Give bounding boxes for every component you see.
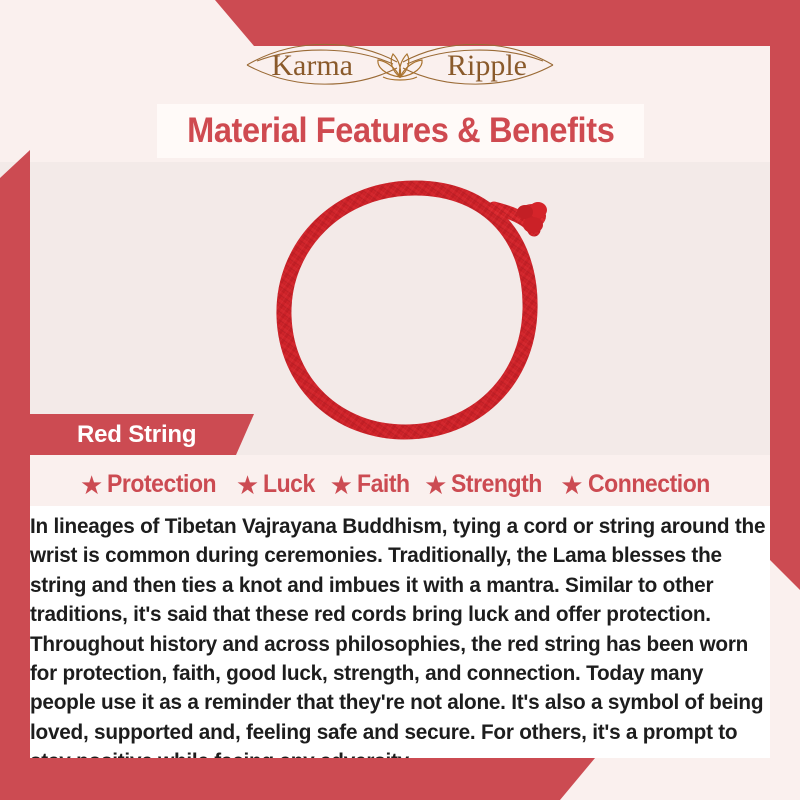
- page-title: Material Features & Benefits: [187, 111, 614, 151]
- feature-label: Connection: [588, 470, 710, 499]
- description-text: In lineages of Tibetan Vajrayana Buddhis…: [30, 506, 770, 758]
- feature-list: ★ Protection ★ Luck ★ Faith ★ Strength ★…: [30, 463, 770, 506]
- feature-label: Strength: [451, 470, 542, 499]
- star-icon: ★: [80, 472, 103, 498]
- feature-label: Protection: [107, 470, 216, 499]
- material-name: Red String: [77, 421, 196, 449]
- title-banner: Material Features & Benefits: [157, 104, 644, 158]
- feature-item-connection: ★ Connection: [555, 470, 725, 499]
- feature-item-luck: ★ Luck: [231, 470, 325, 499]
- hero-image-panel: [0, 162, 800, 455]
- infographic-page: Karma Ripple Material Features & Benefit…: [0, 0, 800, 800]
- feature-item-faith: ★ Faith: [325, 470, 420, 499]
- brand-name-right: Ripple: [447, 49, 527, 82]
- feature-item-strength: ★ Strength: [419, 470, 555, 499]
- brand-logo: Karma Ripple: [0, 34, 800, 96]
- bracelet-loop-shade: [284, 188, 530, 432]
- frame-left-band: [0, 150, 30, 800]
- feature-item-protection: ★ Protection: [75, 470, 231, 499]
- feature-label: Faith: [357, 470, 410, 499]
- feature-label: Luck: [263, 470, 315, 499]
- star-icon: ★: [236, 472, 259, 498]
- hero-inner: [0, 162, 800, 455]
- bracelet-knot: [517, 202, 547, 233]
- material-ribbon-label: Red String: [22, 414, 254, 455]
- frame-bottom-band: [0, 758, 800, 800]
- description-panel: In lineages of Tibetan Vajrayana Buddhis…: [30, 506, 770, 758]
- star-icon: ★: [330, 472, 353, 498]
- star-icon: ★: [424, 472, 447, 498]
- brand-name-left: Karma: [271, 49, 353, 82]
- red-string-bracelet-image: [242, 170, 582, 455]
- logo-artwork: Karma Ripple: [235, 35, 565, 95]
- star-icon: ★: [560, 472, 583, 498]
